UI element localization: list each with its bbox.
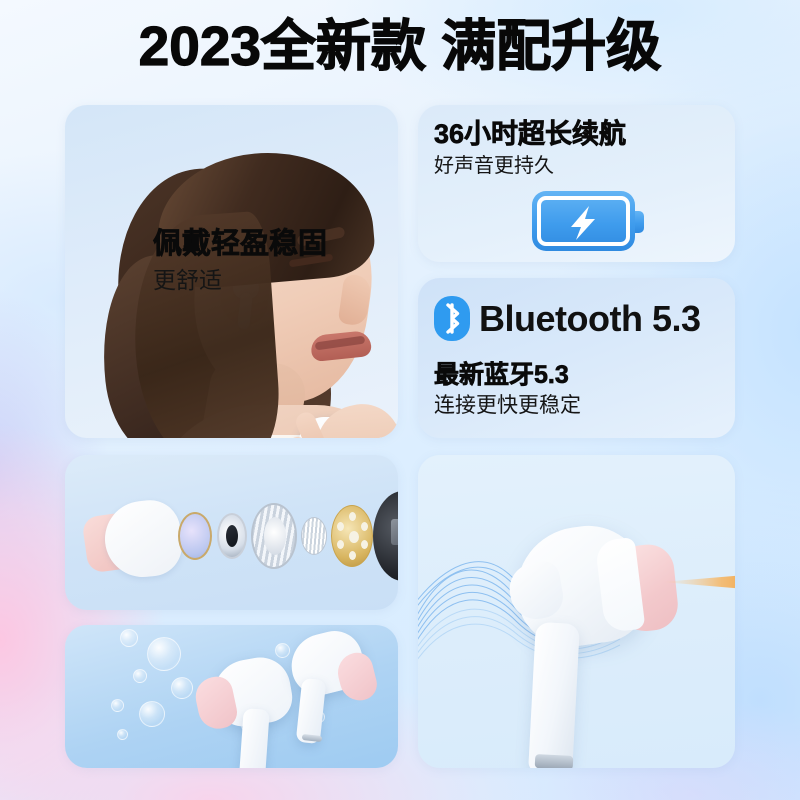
driver-coil-center xyxy=(226,525,238,547)
bluetooth-wordmark: Bluetooth 5.3 xyxy=(434,296,701,341)
plate-hole xyxy=(349,551,356,560)
ipx-left-stem xyxy=(238,708,270,768)
driver-diaphragm xyxy=(178,512,212,560)
water-bubble xyxy=(275,643,290,658)
plate-hole xyxy=(337,540,344,549)
bluetooth-icon xyxy=(434,296,470,341)
water-bubble xyxy=(171,677,193,699)
water-bubble xyxy=(120,629,138,647)
water-bubble xyxy=(147,637,181,671)
bluetooth-sub: 连接更快更稳定 xyxy=(434,392,581,420)
noise-beam-icon xyxy=(662,571,735,593)
driver-brass-plate xyxy=(331,505,373,567)
anc-illustration xyxy=(418,455,735,768)
card-waterproof: IPX4级 防水防汗 xyxy=(65,625,398,768)
anc-earbud-stem xyxy=(528,622,580,768)
water-bubble xyxy=(139,701,165,727)
water-bubble xyxy=(133,669,147,683)
water-bubble xyxy=(117,729,128,740)
driver-exploded-view xyxy=(65,455,398,610)
ipx-illustration xyxy=(65,625,398,768)
page-title: 2023全新款 满配升级 xyxy=(0,18,800,76)
battery-heading: 36小时超长续航 xyxy=(434,118,626,150)
anc-stem-contacts xyxy=(535,754,574,768)
plate-hole xyxy=(361,522,368,531)
comfort-caption: 佩戴轻盈稳固 更舒适 xyxy=(153,227,327,296)
battery-sub: 好声音更持久 xyxy=(434,153,626,180)
comfort-heading: 佩戴轻盈稳固 xyxy=(153,227,327,262)
driver-chip xyxy=(391,519,398,545)
comfort-sub: 更舒适 xyxy=(153,265,327,296)
driver-spacer xyxy=(301,517,327,555)
card-comfort-fit: 佩戴轻盈稳固 更舒适 xyxy=(65,105,398,438)
battery-charging-icon xyxy=(531,190,647,252)
plate-hole xyxy=(337,522,344,531)
card-driver-size: 13mm大动圈 xyxy=(65,455,398,610)
bluetooth-caption: 最新蓝牙5.3 连接更快更稳定 xyxy=(434,360,581,420)
bluetooth-heading: 最新蓝牙5.3 xyxy=(434,360,581,390)
card-noise-cancelling: 38dB深度降噪 xyxy=(418,455,735,768)
battery-caption: 36小时超长续航 好声音更持久 xyxy=(434,118,626,180)
plate-hole-center xyxy=(349,531,359,543)
bluetooth-version-text: Bluetooth 5.3 xyxy=(479,298,701,340)
water-bubble xyxy=(111,699,124,712)
plate-hole xyxy=(349,512,356,521)
driver-magnet-core xyxy=(264,517,286,555)
plate-hole xyxy=(361,540,368,549)
